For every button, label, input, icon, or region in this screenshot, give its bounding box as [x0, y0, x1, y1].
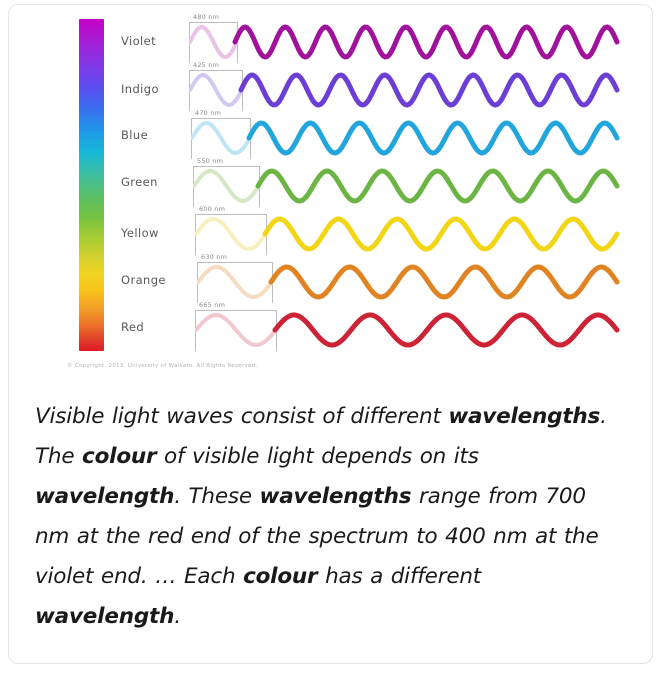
colour-label-red: Red [121, 320, 144, 334]
content-card: Violet480 nmIndigo425 nmBlue470 nmGreen5… [8, 4, 653, 664]
spectrum-gradient-bar [79, 19, 104, 351]
wave-red [271, 307, 621, 353]
spectrum-figure: Violet480 nmIndigo425 nmBlue470 nmGreen5… [9, 5, 652, 381]
caption-text: . [174, 604, 181, 629]
ghost-wave-orange [197, 259, 273, 305]
colour-label-yellow: Yellow [121, 226, 159, 240]
ghost-wave-red [195, 307, 277, 353]
ghost-wave-indigo [189, 67, 243, 113]
ghost-wave-green [193, 163, 260, 209]
caption-emphasis: colour [243, 564, 317, 589]
caption-emphasis: wavelengths [260, 484, 412, 509]
colour-label-orange: Orange [121, 273, 166, 287]
wave-violet [231, 19, 621, 65]
colour-label-blue: Blue [121, 128, 148, 142]
colour-label-violet: Violet [121, 34, 156, 48]
caption-text: of visible light depends on its [156, 444, 478, 469]
caption-block: Visible light waves consist of different… [9, 397, 652, 637]
caption-text: . These [174, 484, 259, 509]
caption-emphasis: wavelengths [448, 404, 600, 429]
wave-orange [267, 259, 621, 305]
caption-paragraph: Visible light waves consist of different… [35, 397, 626, 637]
copyright-text: © Copyright. 2013. University of Waikato… [67, 363, 257, 369]
caption-text: has a different [317, 564, 481, 589]
caption-emphasis: colour [82, 444, 156, 469]
colour-label-green: Green [121, 175, 158, 189]
wave-indigo [237, 67, 621, 113]
caption-emphasis: wavelength [35, 484, 174, 509]
wave-blue [245, 115, 621, 161]
wave-green [254, 163, 621, 209]
ghost-wave-blue [191, 115, 251, 161]
wave-yellow [261, 211, 621, 257]
caption-emphasis: wavelength [35, 604, 174, 629]
ghost-wave-yellow [195, 211, 267, 257]
caption-text: Visible light waves consist of different [35, 404, 448, 429]
colour-label-indigo: Indigo [121, 82, 159, 96]
